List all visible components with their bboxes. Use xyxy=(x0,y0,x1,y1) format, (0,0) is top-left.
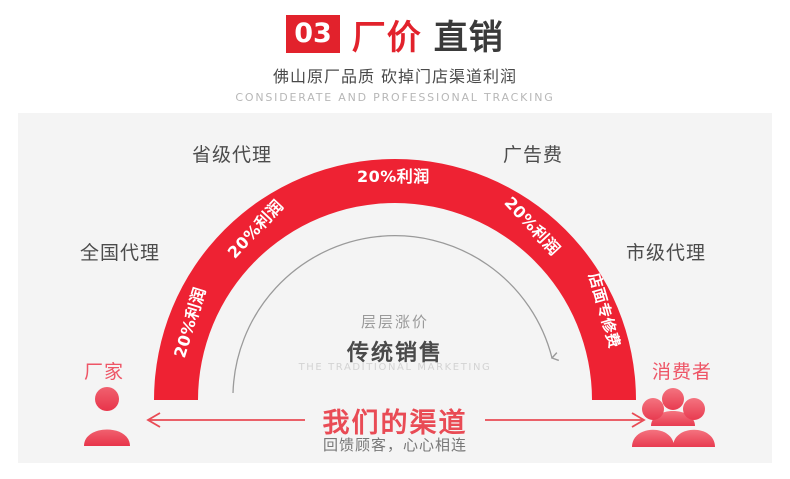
center-english-text: THE TRADITIONAL MARKETING xyxy=(265,362,525,373)
label-consumer: 消费者 xyxy=(652,357,712,384)
consumer-group-icon xyxy=(632,388,715,447)
our-channel-subtitle: 回馈顾客，心心相连 xyxy=(275,434,515,455)
label-factory: 厂家 xyxy=(84,357,124,384)
label-city-agent: 市级代理 xyxy=(626,238,706,265)
label-national-agent: 全国代理 xyxy=(80,238,160,265)
label-provincial-agent: 省级代理 xyxy=(192,140,272,167)
factory-person-icon xyxy=(84,387,130,446)
label-advertising-fee: 广告费 xyxy=(503,140,563,167)
infographic-root: 03 厂价 直销 佛山原厂品质 砍掉门店渠道利润 CONSIDERATE AND… xyxy=(0,0,790,479)
center-small-text: 层层涨价 xyxy=(295,311,495,332)
arc-label-top: 20%利润 xyxy=(357,163,430,187)
